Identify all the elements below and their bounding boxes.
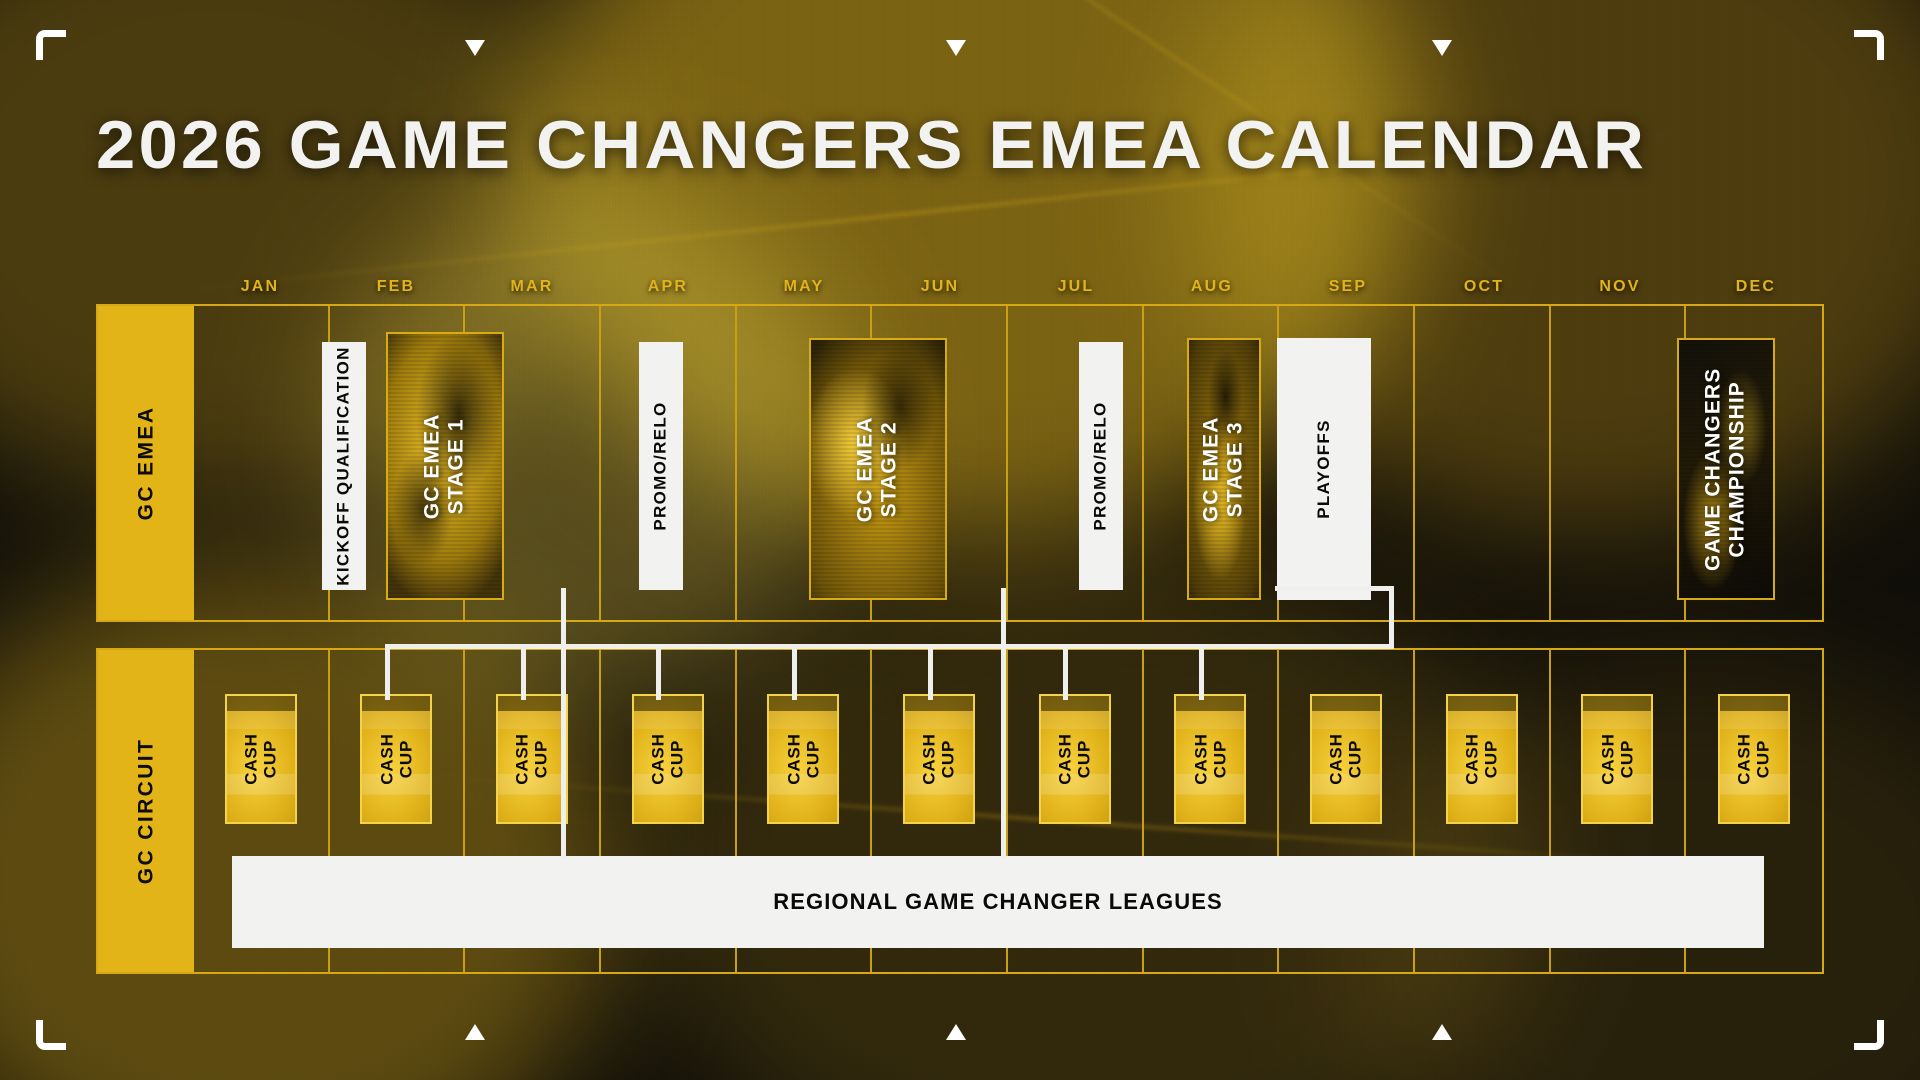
triangle-marker-bottom-1 xyxy=(465,1024,485,1040)
emea-col-nov xyxy=(1551,306,1687,620)
connector-drop-cup-4 xyxy=(792,644,797,700)
cash-cup-9[interactable]: CASHCUP xyxy=(1310,694,1382,824)
event-gc-emea-stage-2-label: GC EMEASTAGE 2 xyxy=(854,416,903,522)
corner-bracket-top-right xyxy=(1854,30,1884,60)
connector-bus-upper-segment xyxy=(1275,586,1394,591)
row-gc-emea: GC EMEA KICKOFF QUALIFICATION GC EMEASTA… xyxy=(96,304,1824,622)
corner-bracket-top-left xyxy=(36,30,66,60)
connector-promo-relo-2-stem xyxy=(1001,588,1006,858)
triangle-marker-top-2 xyxy=(946,40,966,56)
cash-cup-3[interactable]: CASHCUP xyxy=(496,694,568,824)
row-label-gc-circuit: GC CIRCUIT xyxy=(98,650,194,972)
event-gc-emea-stage-2[interactable]: GC EMEASTAGE 2 xyxy=(809,338,947,600)
cash-cup-6[interactable]: CASHCUP xyxy=(903,694,975,824)
event-promo-relo-1-label: PROMO/RELO xyxy=(651,401,671,530)
page-title: 2026 GAME CHANGERS EMEA CALENDAR xyxy=(96,106,1647,184)
row-label-gc-circuit-text: GC CIRCUIT xyxy=(134,738,158,885)
cash-cup-7-label: CASHCUP xyxy=(1056,733,1094,784)
cash-cup-11-label: CASHCUP xyxy=(1598,733,1636,784)
triangle-marker-top-1 xyxy=(465,40,485,56)
cash-cup-10[interactable]: CASHCUP xyxy=(1446,694,1518,824)
cash-cup-1-label: CASHCUP xyxy=(242,733,280,784)
event-gc-emea-stage-1[interactable]: GC EMEASTAGE 1 xyxy=(386,332,504,600)
triangle-marker-top-3 xyxy=(1432,40,1452,56)
triangle-marker-bottom-3 xyxy=(1432,1024,1452,1040)
emea-col-oct xyxy=(1415,306,1551,620)
cash-cup-8[interactable]: CASHCUP xyxy=(1174,694,1246,824)
event-gc-emea-stage-3-label: GC EMEASTAGE 3 xyxy=(1200,416,1249,522)
emea-col-jan xyxy=(194,306,330,620)
cash-cup-1[interactable]: CASHCUP xyxy=(225,694,297,824)
cash-cup-6-label: CASHCUP xyxy=(920,733,958,784)
event-playoffs[interactable]: PLAYOFFS xyxy=(1277,338,1371,600)
event-game-changers-championship[interactable]: GAME CHANGERSCHAMPIONSHIP xyxy=(1677,338,1775,600)
cash-cup-7[interactable]: CASHCUP xyxy=(1039,694,1111,824)
corner-bracket-bottom-left xyxy=(36,1020,66,1050)
cash-cup-10-label: CASHCUP xyxy=(1463,733,1501,784)
event-promo-relo-2[interactable]: PROMO/RELO xyxy=(1079,342,1123,590)
event-gc-emea-stage-1-label: GC EMEASTAGE 1 xyxy=(421,413,470,519)
cash-cup-2-label: CASHCUP xyxy=(377,733,415,784)
cash-cup-9-label: CASHCUP xyxy=(1327,733,1365,784)
emea-col-jul xyxy=(1008,306,1144,620)
triangle-marker-bottom-2 xyxy=(946,1024,966,1040)
corner-bracket-bottom-right xyxy=(1854,1020,1884,1050)
cash-cup-3-label: CASHCUP xyxy=(513,733,551,784)
connector-riser-to-playoffs xyxy=(1389,586,1394,649)
row-label-gc-emea: GC EMEA xyxy=(98,306,194,620)
event-promo-relo-2-label: PROMO/RELO xyxy=(1091,401,1111,530)
cash-cup-5-label: CASHCUP xyxy=(784,733,822,784)
row-label-gc-emea-text: GC EMEA xyxy=(134,406,158,521)
event-playoffs-label: PLAYOFFS xyxy=(1314,419,1334,519)
cash-cup-12-label: CASHCUP xyxy=(1735,733,1773,784)
connector-drop-cup-1 xyxy=(385,644,390,700)
event-kickoff-qualification[interactable]: KICKOFF QUALIFICATION xyxy=(322,342,366,590)
connector-drop-cup-3 xyxy=(656,644,661,700)
event-game-changers-championship-label: GAME CHANGERSCHAMPIONSHIP xyxy=(1702,367,1751,570)
cash-cup-11[interactable]: CASHCUP xyxy=(1581,694,1653,824)
regional-leagues-bar[interactable]: REGIONAL GAME CHANGER LEAGUES xyxy=(232,856,1764,948)
cash-cup-4-label: CASHCUP xyxy=(649,733,687,784)
regional-leagues-label: REGIONAL GAME CHANGER LEAGUES xyxy=(773,889,1223,915)
event-gc-emea-stage-3[interactable]: GC EMEASTAGE 3 xyxy=(1187,338,1261,600)
cash-cup-2[interactable]: CASHCUP xyxy=(360,694,432,824)
connector-drop-cup-7 xyxy=(1199,644,1204,700)
connector-bus-horizontal xyxy=(385,644,1394,649)
cash-cup-8-label: CASHCUP xyxy=(1191,733,1229,784)
connector-drop-cup-6 xyxy=(1063,644,1068,700)
cash-cup-4[interactable]: CASHCUP xyxy=(632,694,704,824)
connector-drop-cup-2 xyxy=(521,644,526,700)
event-kickoff-qualification-label: KICKOFF QUALIFICATION xyxy=(334,346,354,585)
cash-cup-12[interactable]: CASHCUP xyxy=(1718,694,1790,824)
connector-drop-cup-5 xyxy=(928,644,933,700)
connector-promo-relo-1-stem xyxy=(561,588,566,858)
cash-cup-5[interactable]: CASHCUP xyxy=(767,694,839,824)
event-promo-relo-1[interactable]: PROMO/RELO xyxy=(639,342,683,590)
